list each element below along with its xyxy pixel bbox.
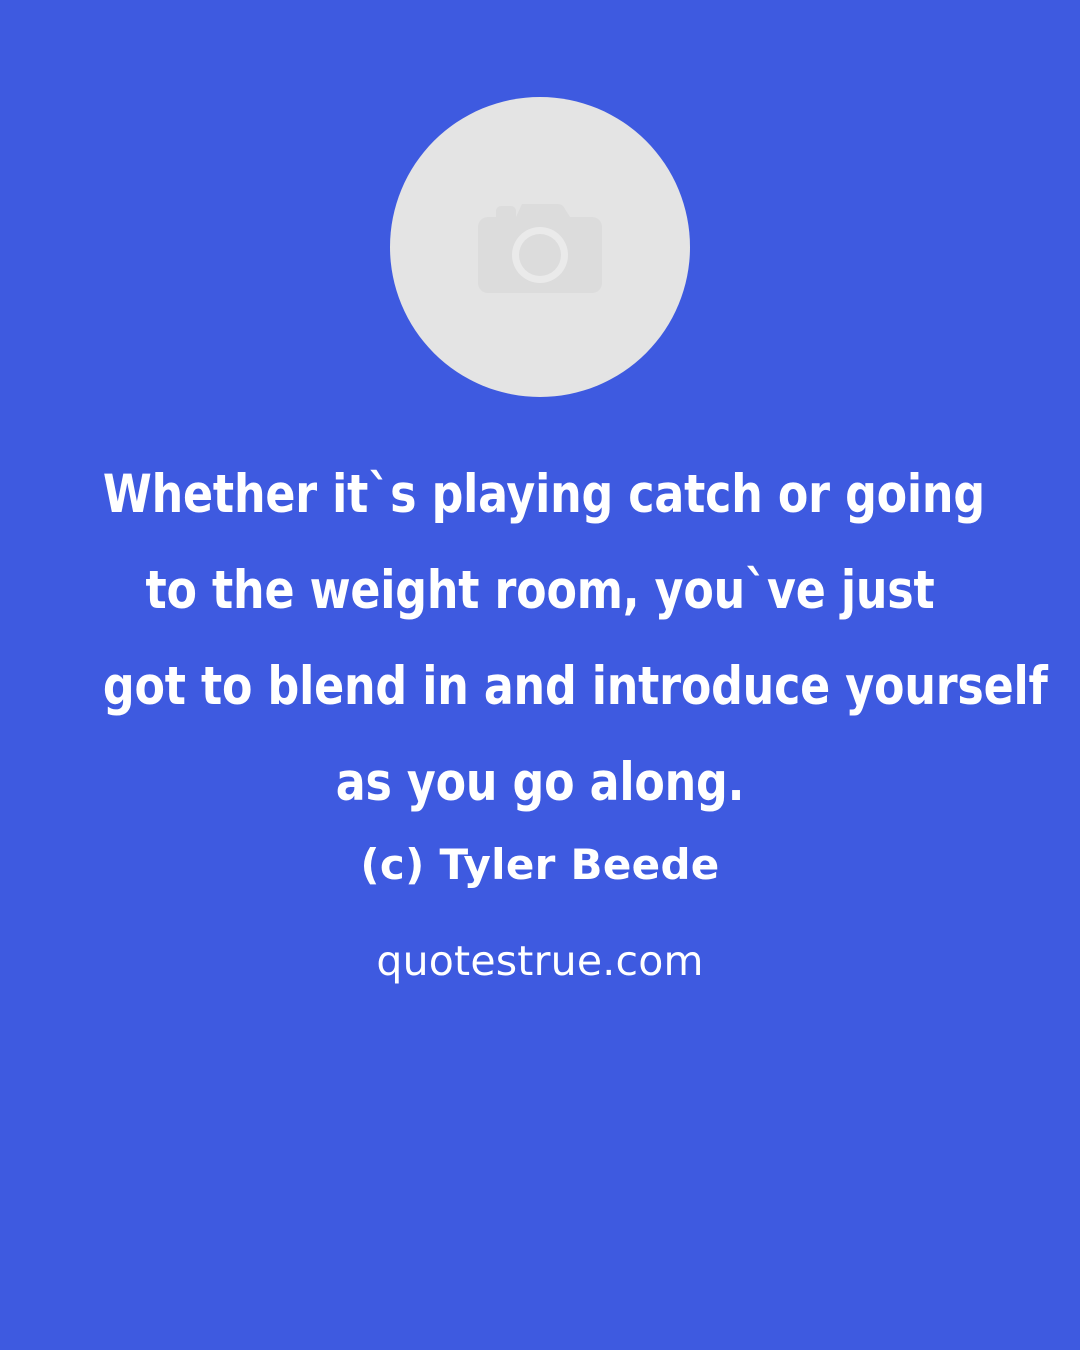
quote-line: to the weight room, you`ve just [103, 543, 977, 639]
quote-text: Whether it`s playing catch or going to t… [103, 447, 977, 831]
quote-author: (c) Tyler Beede [0, 836, 1080, 894]
quote-line: got to blend in and introduce yourself [103, 639, 977, 735]
site-watermark: quotestrue.com [0, 932, 1080, 990]
quote-card: Whether it`s playing catch or going to t… [0, 0, 1080, 1350]
camera-icon [478, 201, 602, 293]
quote-line: as you go along. [103, 735, 977, 831]
quote-line: Whether it`s playing catch or going [103, 447, 977, 543]
avatar [390, 97, 690, 397]
